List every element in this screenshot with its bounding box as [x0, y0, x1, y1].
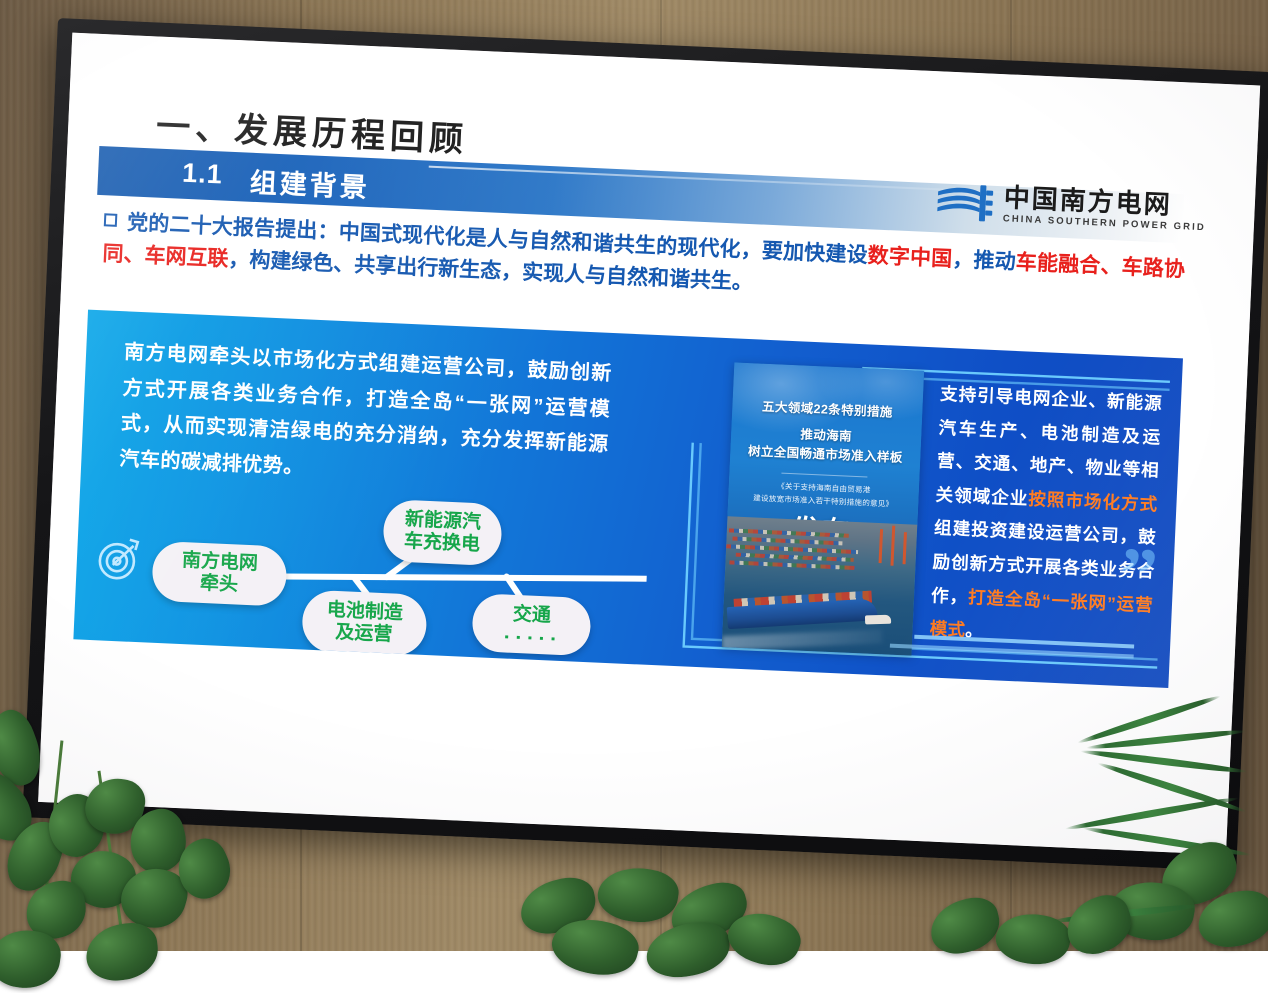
flow-node-ev-charging[interactable]: 新能源汽 车充换电: [382, 499, 503, 566]
flow-node-ev-line1: 新能源汽: [405, 509, 482, 535]
flow-diagram: 南方电网 牵头 新能源汽 车充换电 电池制造 及运营: [83, 492, 649, 665]
flow-node-transport-ellipsis: ▪ ▪ ▪ ▪ ▪: [504, 629, 557, 645]
square-bullet-icon: [104, 213, 118, 227]
quote-run-1: 按照市场化方式: [1028, 488, 1158, 514]
power-grid-mark-icon: [935, 179, 995, 226]
blue-panel-paragraph: 南方电网牵头以市场化方式组建运营公司，鼓励创新方式开展各类业务合作，打造全岛“一…: [119, 335, 613, 499]
subsection-number: 1.1: [182, 158, 224, 191]
bullet-run-2: ，推动: [952, 248, 1017, 274]
container-port-photo: [722, 516, 918, 655]
closing-quote-glyph: ”: [1119, 552, 1158, 598]
tugboat: [865, 615, 891, 625]
foreground-plant-left: [0, 700, 290, 960]
ship-wake: [722, 629, 882, 650]
flow-node-transport[interactable]: 交通 ▪ ▪ ▪ ▪ ▪: [471, 593, 591, 656]
logo-wordmark: 中国南方电网 CHINA SOUTHERN POWER GRID: [1003, 184, 1208, 233]
flow-node-lead-line1: 南方电网: [181, 550, 258, 576]
flow-node-ev-line2: 车充换电: [404, 531, 481, 557]
poster-headline-secondary: 推动海南 树立全国畅通市场准入样板: [738, 423, 913, 468]
foreground-plant-right-low: [930, 880, 1130, 970]
subsection-title: 组建背景: [249, 161, 371, 205]
flow-node-transport-label: 交通: [512, 604, 551, 628]
content-blue-panel: 南方电网牵头以市场化方式组建运营公司，鼓励创新方式开展各类业务合作，打造全岛“一…: [73, 310, 1183, 688]
meeting-room-background: 一、发展历程回顾 1.1 组建背景: [0, 0, 1268, 951]
flow-node-battery[interactable]: 电池制造 及运营: [301, 590, 428, 657]
flow-node-battery-line2: 及运营: [335, 622, 393, 647]
flow-node-lead-line2: 牵头: [199, 573, 238, 597]
policy-poster-image: 五大领域22条特别措施 推动海南 树立全国畅通市场准入样板 《关于支持海南自由贸…: [722, 362, 924, 655]
flow-node-battery-line1: 电池制造: [326, 599, 403, 625]
flow-node-lead[interactable]: 南方电网 牵头: [151, 541, 288, 607]
bullet-run-1: 数字中国: [867, 244, 953, 271]
target-arrow-icon: [92, 530, 146, 584]
